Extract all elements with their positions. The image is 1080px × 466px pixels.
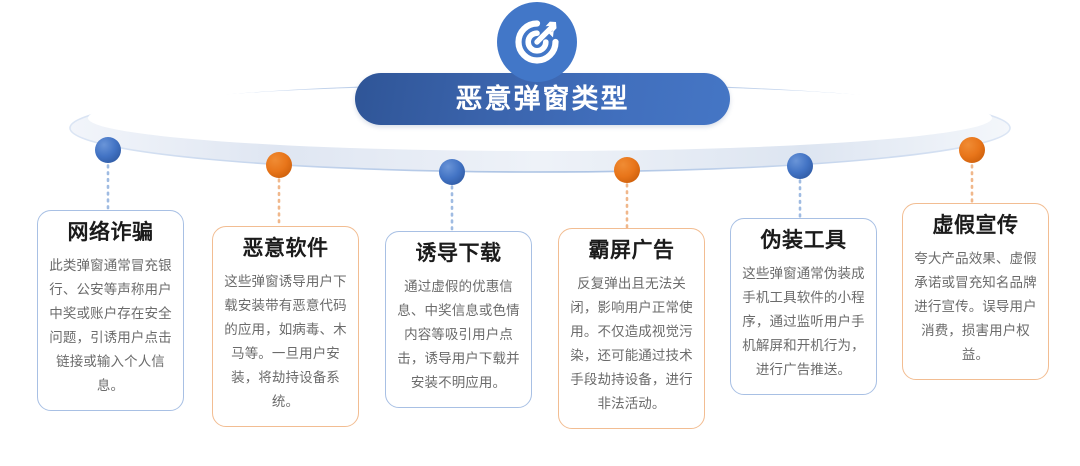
card-description: 反复弹出且无法关闭，影响用户正常使用。不仅造成视觉污染，还可能通过技术手段劫持设… xyxy=(568,272,695,416)
page-title: 恶意弹窗类型 xyxy=(456,86,630,113)
card-false-advertising[interactable]: 虚假宣传 夸大产品效果、虚假承诺或冒充知名品牌进行宣传。误导用户消费，损害用户权… xyxy=(902,203,1049,380)
card-screen-hogging-ads[interactable]: 霸屏广告 反复弹出且无法关闭，影响用户正常使用。不仅造成视觉污染，还可能通过技术… xyxy=(558,228,705,429)
timeline-dot-5 xyxy=(787,153,813,179)
card-description: 通过虚假的优惠信息、中奖信息或色情内容等吸引用户点击，诱导用户下载并安装不明应用… xyxy=(395,275,522,395)
timeline-dot-4 xyxy=(614,157,640,183)
card-title: 网络诈骗 xyxy=(68,221,154,245)
target-dart-icon xyxy=(497,2,577,82)
card-title: 诱导下载 xyxy=(416,242,502,266)
card-description: 此类弹窗通常冒充银行、公安等声称用户中奖或账户存在安全问题，引诱用户点击链接或输… xyxy=(47,254,174,398)
card-title: 伪装工具 xyxy=(761,229,847,253)
timeline-dot-3 xyxy=(439,159,465,185)
card-description: 这些弹窗诱导用户下载安装带有恶意代码的应用，如病毒、木马等。一旦用户安装，将劫持… xyxy=(222,270,349,414)
card-induced-download[interactable]: 诱导下载 通过虚假的优惠信息、中奖信息或色情内容等吸引用户点击，诱导用户下载并安… xyxy=(385,231,532,408)
card-title: 恶意软件 xyxy=(243,237,329,261)
card-disguised-tools[interactable]: 伪装工具 这些弹窗通常伪装成手机工具软件的小程序，通过监听用户手机解屏和开机行为… xyxy=(730,218,877,395)
card-network-fraud[interactable]: 网络诈骗 此类弹窗通常冒充银行、公安等声称用户中奖或账户存在安全问题，引诱用户点… xyxy=(37,210,184,411)
card-title: 虚假宣传 xyxy=(933,214,1019,238)
card-description: 夸大产品效果、虚假承诺或冒充知名品牌进行宣传。误导用户消费，损害用户权益。 xyxy=(912,247,1039,367)
infographic-canvas: 恶意弹窗类型 网络诈骗 此类弹窗通常冒充银行、公安等声称用户中奖或账户存在安全问… xyxy=(0,0,1080,466)
card-title: 霸屏广告 xyxy=(589,239,675,263)
timeline-dot-6 xyxy=(959,137,985,163)
timeline-dot-2 xyxy=(266,152,292,178)
timeline-dot-1 xyxy=(95,137,121,163)
card-malware[interactable]: 恶意软件 这些弹窗诱导用户下载安装带有恶意代码的应用，如病毒、木马等。一旦用户安… xyxy=(212,226,359,427)
card-description: 这些弹窗通常伪装成手机工具软件的小程序，通过监听用户手机解屏和开机行为，进行广告… xyxy=(740,262,867,382)
